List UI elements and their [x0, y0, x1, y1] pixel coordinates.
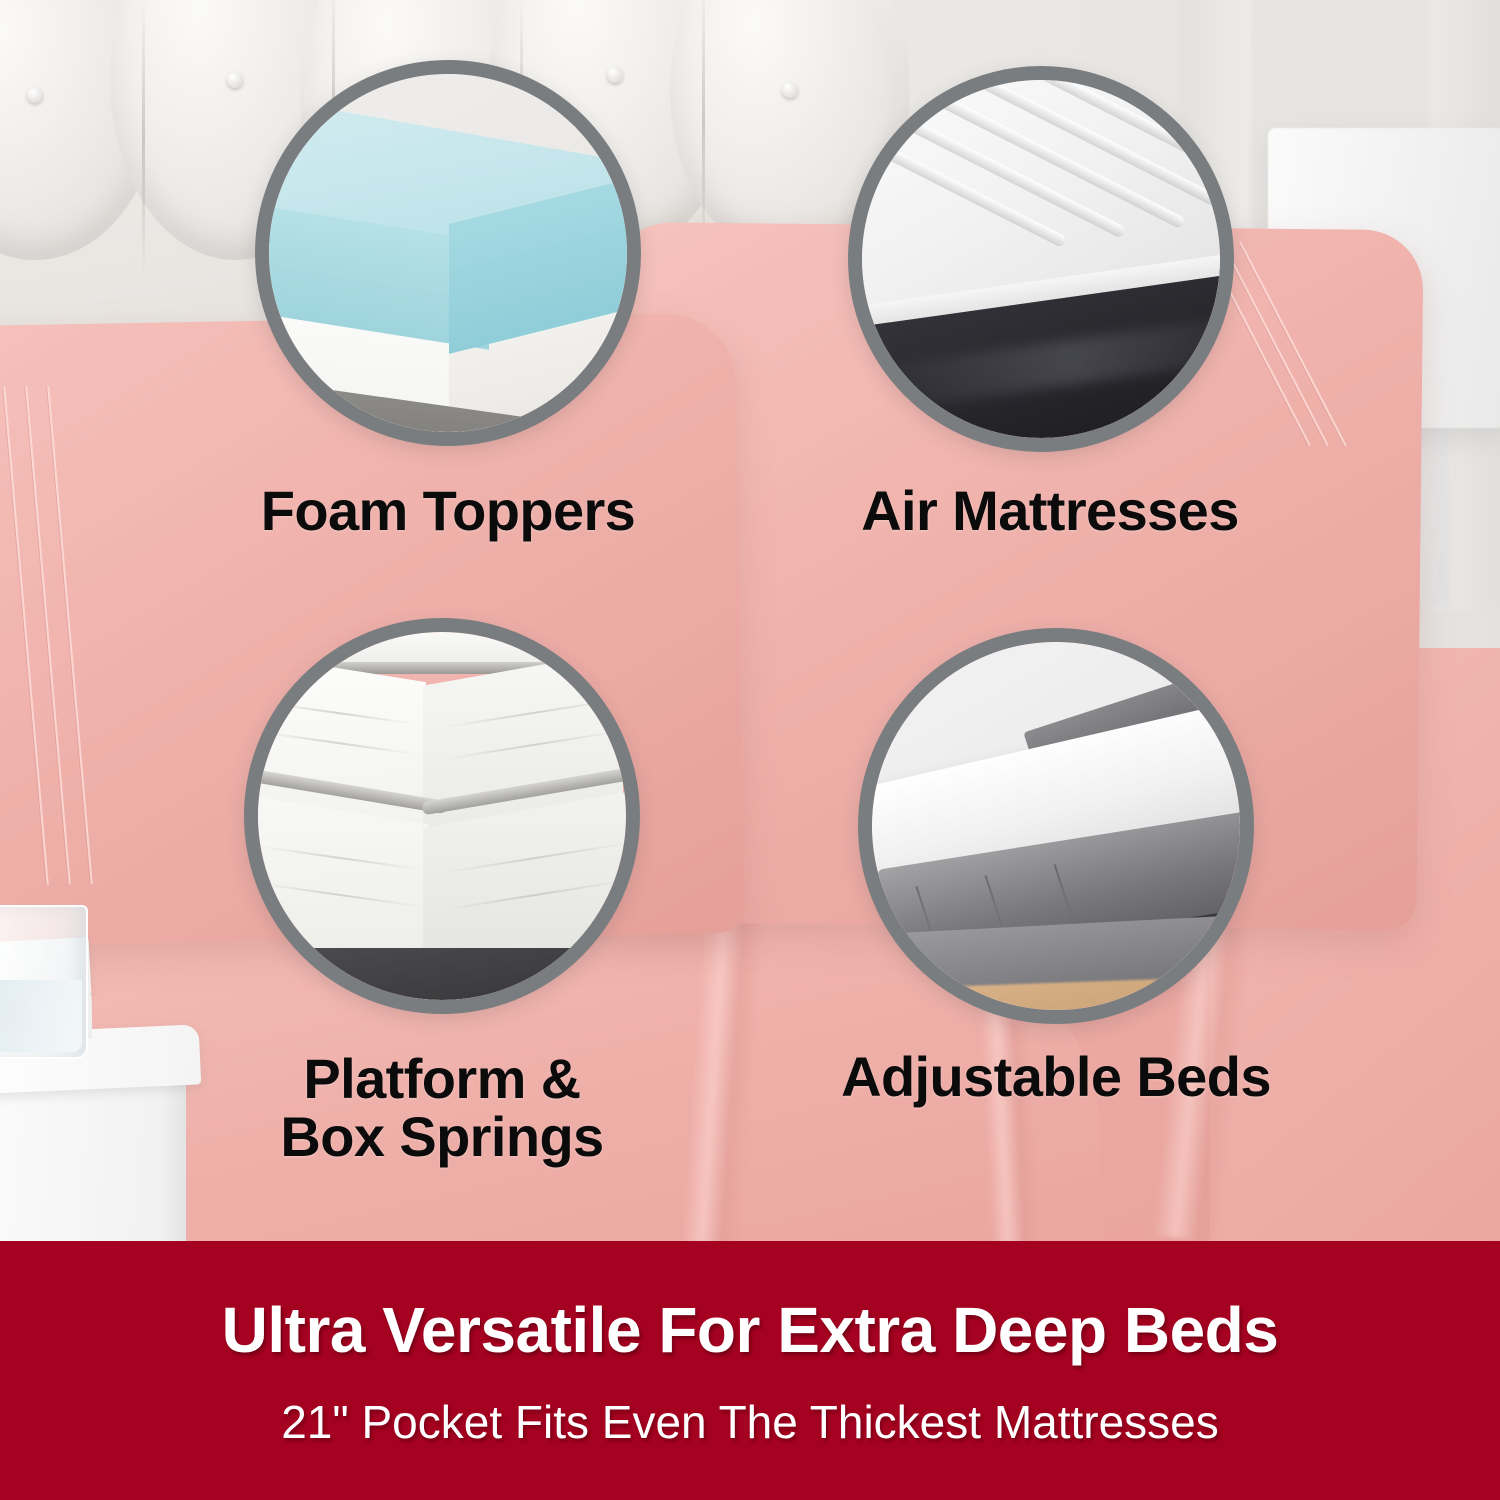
adjustable-bed-icon [858, 628, 1254, 1024]
banner-subtitle: 21" Pocket Fits Even The Thickest Mattre… [281, 1395, 1219, 1449]
callout-label-adjustable-beds: Adjustable Beds [776, 1048, 1336, 1106]
pillow-hem-stitch [2, 387, 49, 885]
callout-label-air-mattresses: Air Mattresses [770, 482, 1330, 540]
bottom-banner: Ultra Versatile For Extra Deep Beds 21" … [0, 1241, 1500, 1500]
foam-topper-icon [255, 60, 641, 446]
air-mattress-icon [848, 66, 1234, 452]
callout-label-foam-toppers: Foam Toppers [168, 482, 728, 540]
pillow-hem-stitch [46, 386, 93, 884]
headboard-seam [142, 0, 145, 280]
banner-title: Ultra Versatile For Extra Deep Beds [222, 1293, 1279, 1367]
pillow-hem-stitch [1220, 241, 1329, 447]
nightstand-body [0, 1078, 185, 1263]
water-glass-liquid [0, 980, 82, 1052]
product-feature-image: Foam Toppers Air Mattresses [0, 0, 1500, 1500]
box-spring-icon [244, 618, 640, 1014]
pillow-hem-stitch [24, 386, 71, 884]
callout-label-platform-box-springs: Platform & Box Springs [162, 1050, 722, 1166]
